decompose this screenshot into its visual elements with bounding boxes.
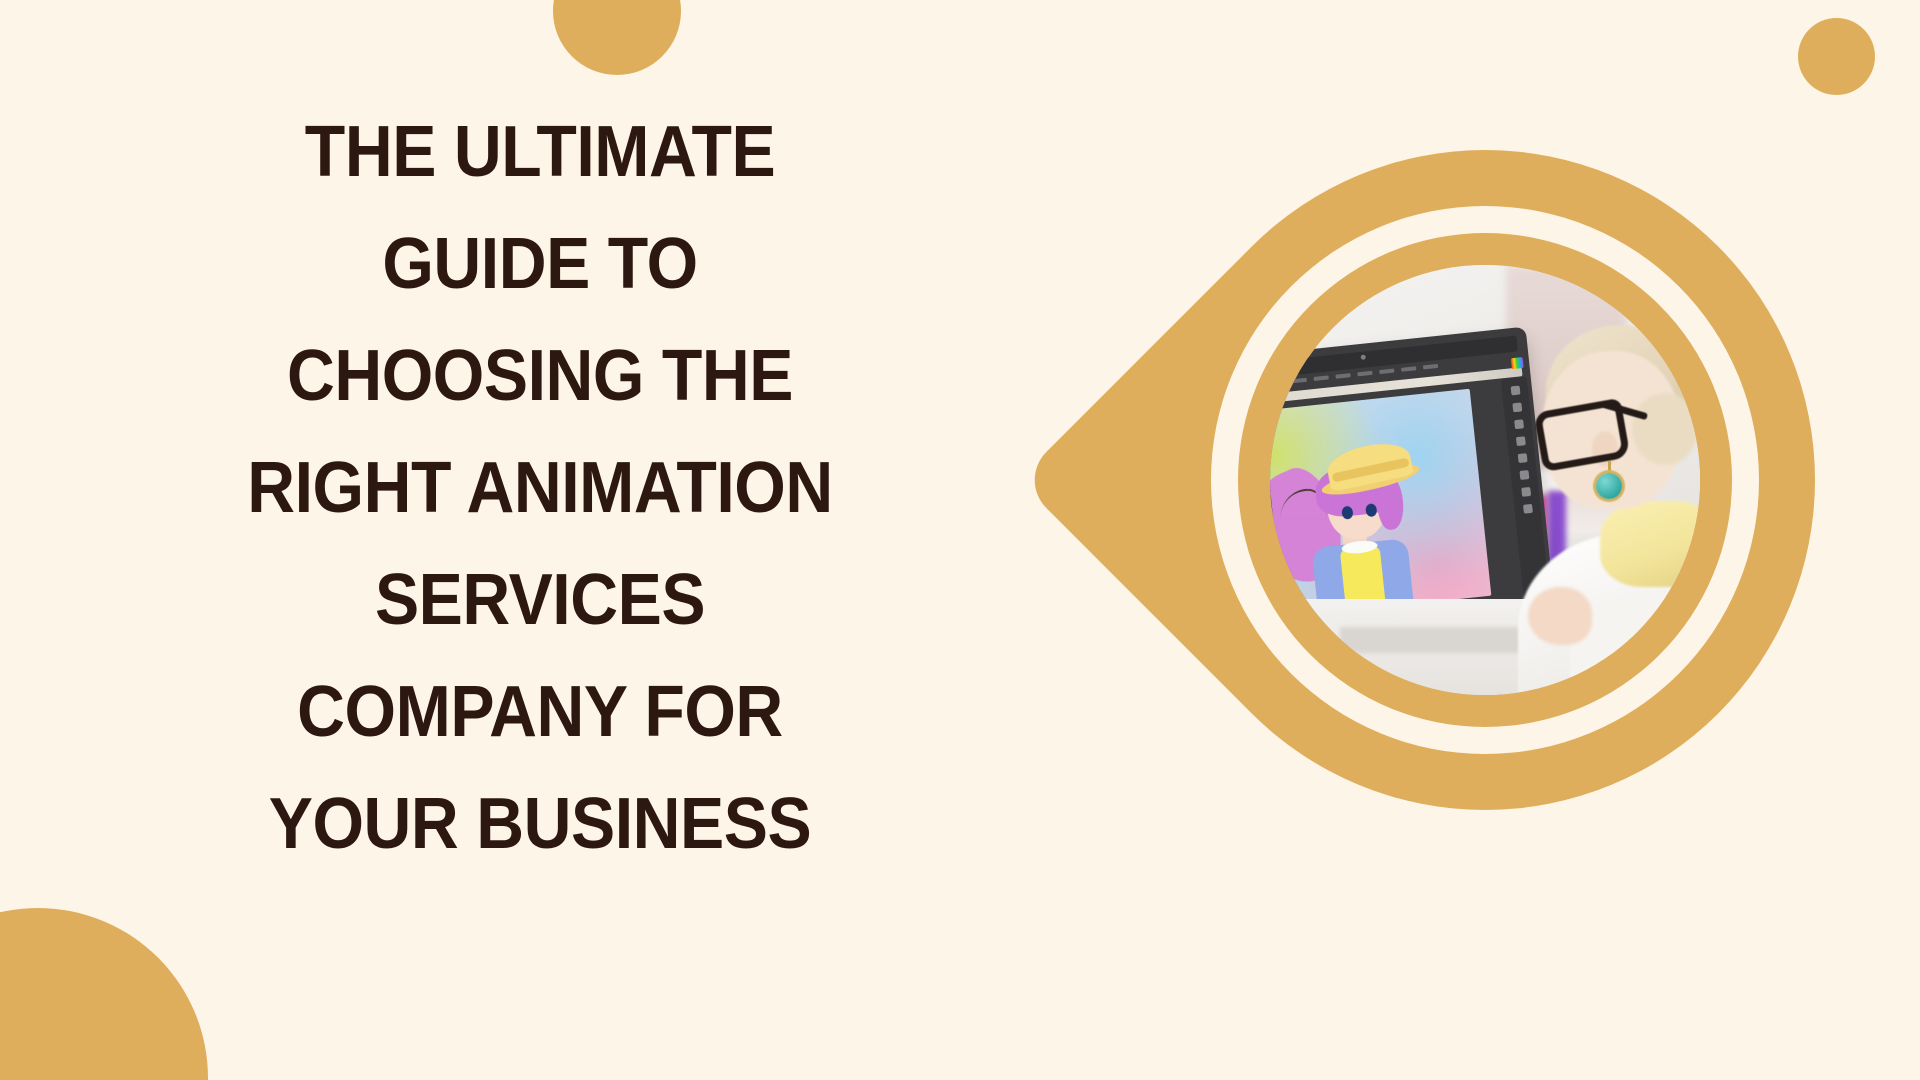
gold-location-pin-frame bbox=[1155, 150, 1895, 1080]
pen-tool-icon bbox=[1514, 419, 1524, 429]
menu-item-icon bbox=[1423, 364, 1438, 370]
title-line-6: COMPANY FOR bbox=[154, 656, 927, 768]
menu-item-icon bbox=[1314, 375, 1329, 381]
woman-hand bbox=[1528, 587, 1592, 645]
title-line-3: CHOOSING THE bbox=[154, 320, 927, 432]
menu-item-icon bbox=[1335, 373, 1350, 379]
title-line-1: THE ULTIMATE bbox=[154, 96, 927, 208]
gold-circle-top bbox=[553, 0, 681, 75]
photo-desk-shadow bbox=[1340, 627, 1540, 653]
title-line-7: YOUR BUSINESS bbox=[154, 768, 927, 880]
smudge-tool-icon bbox=[1519, 470, 1529, 480]
menu-item-icon bbox=[1357, 371, 1372, 377]
title-line-2: GUIDE TO bbox=[154, 208, 927, 320]
woman-hair-bun bbox=[1632, 393, 1698, 465]
woman-yellow-scarf bbox=[1600, 501, 1700, 587]
color-swatch-icon bbox=[1511, 357, 1524, 369]
menu-item-icon bbox=[1379, 369, 1394, 375]
poster-canvas: THE ULTIMATE GUIDE TO CHOOSING THE RIGHT… bbox=[0, 0, 1920, 1080]
page-title: THE ULTIMATE GUIDE TO CHOOSING THE RIGHT… bbox=[154, 96, 927, 880]
gold-circle-top-right bbox=[1798, 18, 1875, 95]
title-line-4: RIGHT ANIMATION bbox=[154, 432, 927, 544]
teal-earring bbox=[1596, 473, 1622, 499]
hero-photo bbox=[1270, 265, 1700, 695]
select-tool-icon bbox=[1521, 487, 1531, 497]
gold-blob-bottom-left bbox=[0, 908, 208, 1080]
menu-item-icon bbox=[1401, 366, 1416, 372]
layers-list bbox=[1270, 498, 1271, 579]
title-line-5: SERVICES bbox=[154, 544, 927, 656]
menu-item-icon bbox=[1292, 378, 1307, 384]
zoom-tool-icon bbox=[1523, 504, 1533, 514]
brush-tool-icon bbox=[1510, 386, 1520, 396]
fill-tool-icon bbox=[1517, 453, 1527, 463]
shape-tool-icon bbox=[1515, 436, 1525, 446]
tablet-artwork-canvas bbox=[1270, 389, 1491, 623]
eraser-tool-icon bbox=[1512, 402, 1522, 412]
